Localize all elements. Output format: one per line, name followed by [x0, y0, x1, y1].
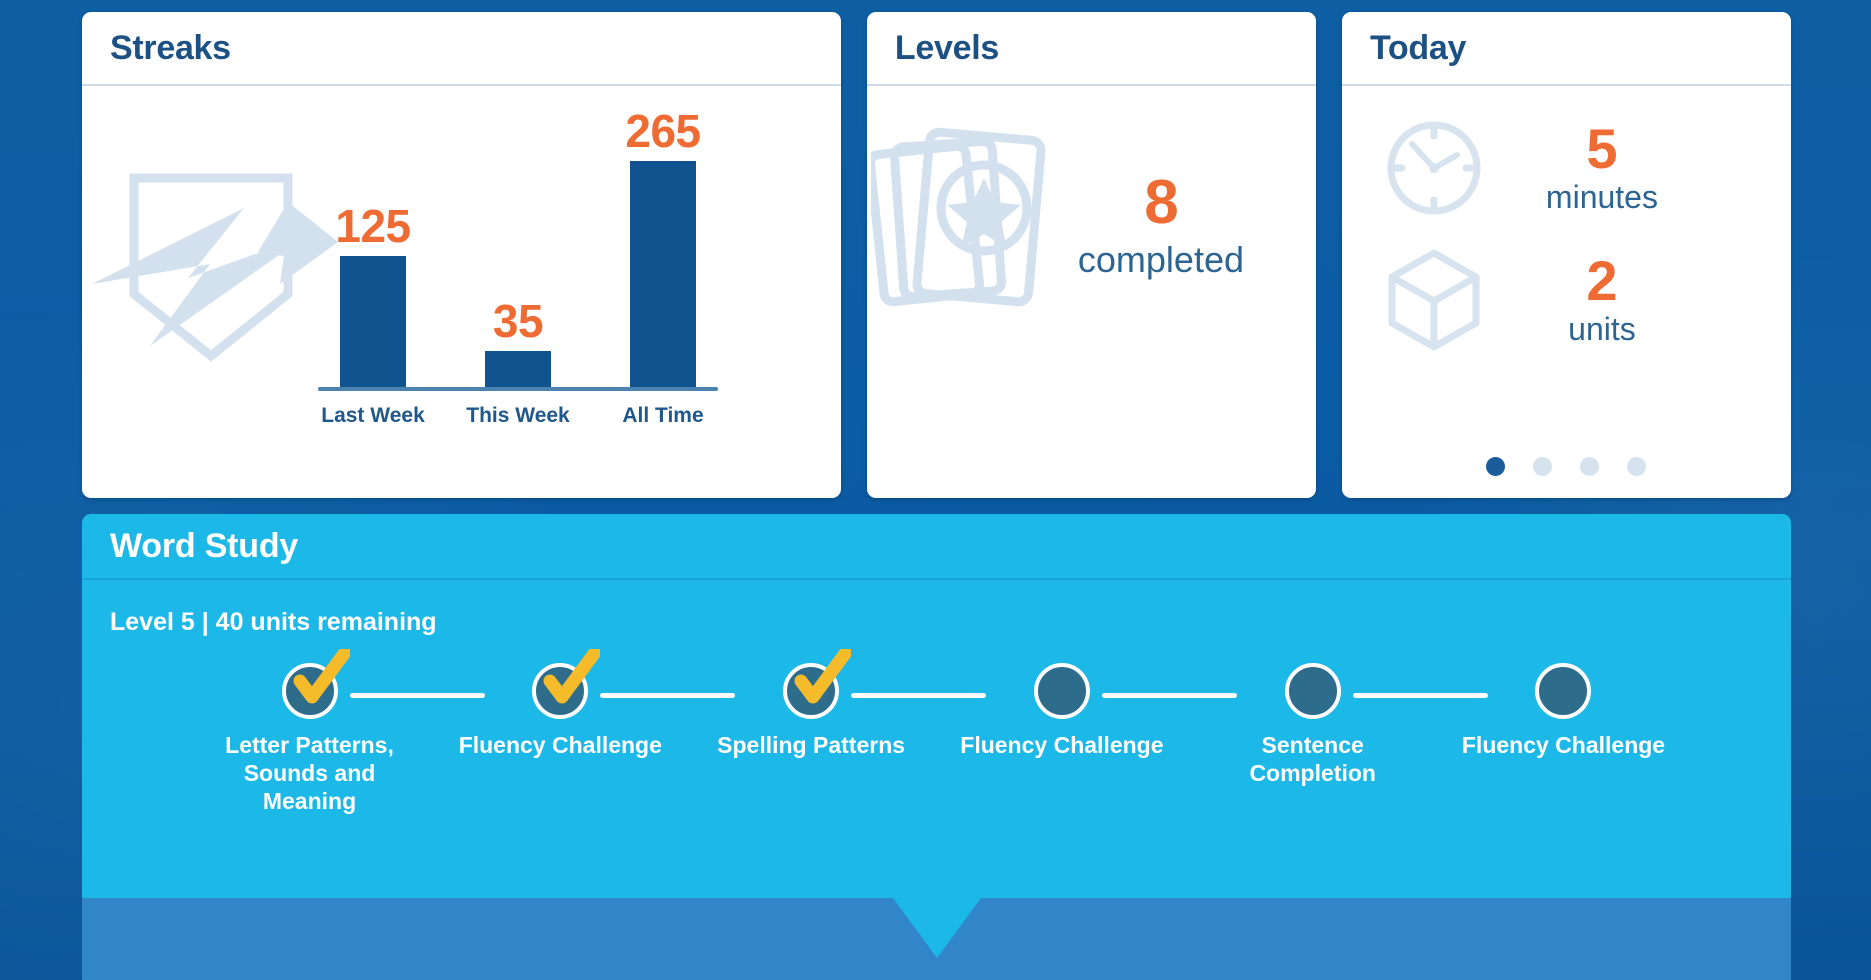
step-circle-completed[interactable]	[282, 663, 338, 719]
clock-icon	[1382, 116, 1486, 220]
levels-stat: 8 completed	[1046, 172, 1276, 280]
streaks-card-body: 125 35 265 Last Week This Week	[82, 86, 841, 498]
progress-step-4[interactable]: Fluency Challenge	[954, 663, 1169, 759]
today-pagination[interactable]	[1342, 457, 1791, 476]
step-circle-completed[interactable]	[532, 663, 588, 719]
word-study-title: Word Study	[110, 527, 298, 566]
today-metric-list: 5 minutes	[1342, 102, 1791, 366]
word-study-header: Word Study	[82, 514, 1791, 580]
levels-count: 8	[1046, 172, 1276, 234]
cube-icon	[1382, 245, 1486, 355]
step-label: Spelling Patterns	[717, 731, 905, 759]
streaks-card[interactable]: Streaks 125 35	[82, 12, 841, 498]
step-circle-incomplete[interactable]	[1034, 663, 1090, 719]
step-label: Letter Patterns, Sounds and Meaning	[202, 731, 417, 815]
check-icon	[538, 649, 600, 711]
bar-rect	[340, 256, 406, 388]
chart-bars: 125 35 265	[318, 108, 718, 388]
word-study-footer	[82, 898, 1791, 980]
shield-lightning-arrow-icon	[92, 156, 342, 386]
today-metric-units: 2 units	[1342, 234, 1791, 366]
pagination-dot-2[interactable]	[1533, 457, 1552, 476]
stats-card-row: Streaks 125 35	[82, 12, 1791, 498]
levels-card-header: Levels	[867, 12, 1316, 86]
streaks-bar-chart: 125 35 265 Last Week This Week	[318, 104, 718, 434]
expand-notch-triangle[interactable]	[893, 898, 981, 958]
today-units-text: 2 units	[1527, 253, 1677, 348]
check-icon	[288, 649, 350, 711]
levels-count-label: completed	[1046, 240, 1276, 280]
step-label: Sentence Completion	[1205, 731, 1420, 787]
step-circle-incomplete[interactable]	[1285, 663, 1341, 719]
bar-column: 35	[463, 108, 573, 388]
step-connector	[1353, 693, 1488, 698]
step-circle-incomplete[interactable]	[1535, 663, 1591, 719]
today-units-value: 2	[1527, 253, 1677, 309]
chart-axis-labels: Last Week This Week All Time	[318, 404, 718, 428]
today-minutes-unit: minutes	[1527, 179, 1677, 216]
progress-step-2[interactable]: Fluency Challenge	[453, 663, 668, 759]
streaks-card-header: Streaks	[82, 12, 841, 86]
axis-tick-label: Last Week	[318, 404, 428, 428]
bar-rect	[485, 351, 551, 388]
clock-icon-wrap	[1342, 116, 1527, 220]
pagination-dot-4[interactable]	[1627, 457, 1646, 476]
step-connector	[600, 693, 735, 698]
bar-column: 265	[608, 108, 718, 388]
bar-value-label: 125	[335, 203, 410, 249]
levels-card-title: Levels	[895, 29, 999, 68]
pagination-dot-1[interactable]	[1486, 457, 1505, 476]
word-study-subtitle: Level 5 | 40 units remaining	[110, 608, 1791, 637]
levels-card-body: 8 completed	[867, 86, 1316, 498]
bar-column: 125	[318, 108, 428, 388]
today-metric-minutes: 5 minutes	[1342, 102, 1791, 234]
axis-tick-label: This Week	[463, 404, 573, 428]
progress-step-3[interactable]: Spelling Patterns	[704, 663, 919, 759]
axis-tick-label: All Time	[608, 404, 718, 428]
step-label: Fluency Challenge	[960, 731, 1163, 759]
today-card-body: 5 minutes	[1342, 86, 1791, 498]
today-card-title: Today	[1370, 29, 1466, 68]
step-label: Fluency Challenge	[459, 731, 662, 759]
bar-rect	[630, 161, 696, 388]
bar-value-label: 35	[493, 298, 543, 344]
step-connector	[350, 693, 485, 698]
today-card[interactable]: Today	[1342, 12, 1791, 498]
today-minutes-value: 5	[1527, 121, 1677, 177]
pagination-dot-3[interactable]	[1580, 457, 1599, 476]
bar-value-label: 265	[625, 108, 700, 154]
today-card-header: Today	[1342, 12, 1791, 86]
word-study-panel[interactable]: Word Study Level 5 | 40 units remaining …	[82, 514, 1791, 980]
step-circle-completed[interactable]	[783, 663, 839, 719]
today-minutes-text: 5 minutes	[1527, 121, 1677, 216]
today-units-unit: units	[1527, 311, 1677, 348]
streaks-card-title: Streaks	[110, 29, 231, 68]
chart-axis-line	[318, 387, 718, 391]
progress-step-1[interactable]: Letter Patterns, Sounds and Meaning	[202, 663, 417, 815]
cube-icon-wrap	[1342, 245, 1527, 355]
step-label: Fluency Challenge	[1462, 731, 1665, 759]
step-connector	[851, 693, 986, 698]
step-connector	[1102, 693, 1237, 698]
progress-step-5[interactable]: Sentence Completion	[1205, 663, 1420, 787]
check-icon	[789, 649, 851, 711]
word-study-progress-track: Letter Patterns, Sounds and Meaning Flue…	[82, 663, 1791, 853]
progress-step-6[interactable]: Fluency Challenge	[1456, 663, 1671, 759]
levels-card[interactable]: Levels 8 completed	[867, 12, 1316, 498]
